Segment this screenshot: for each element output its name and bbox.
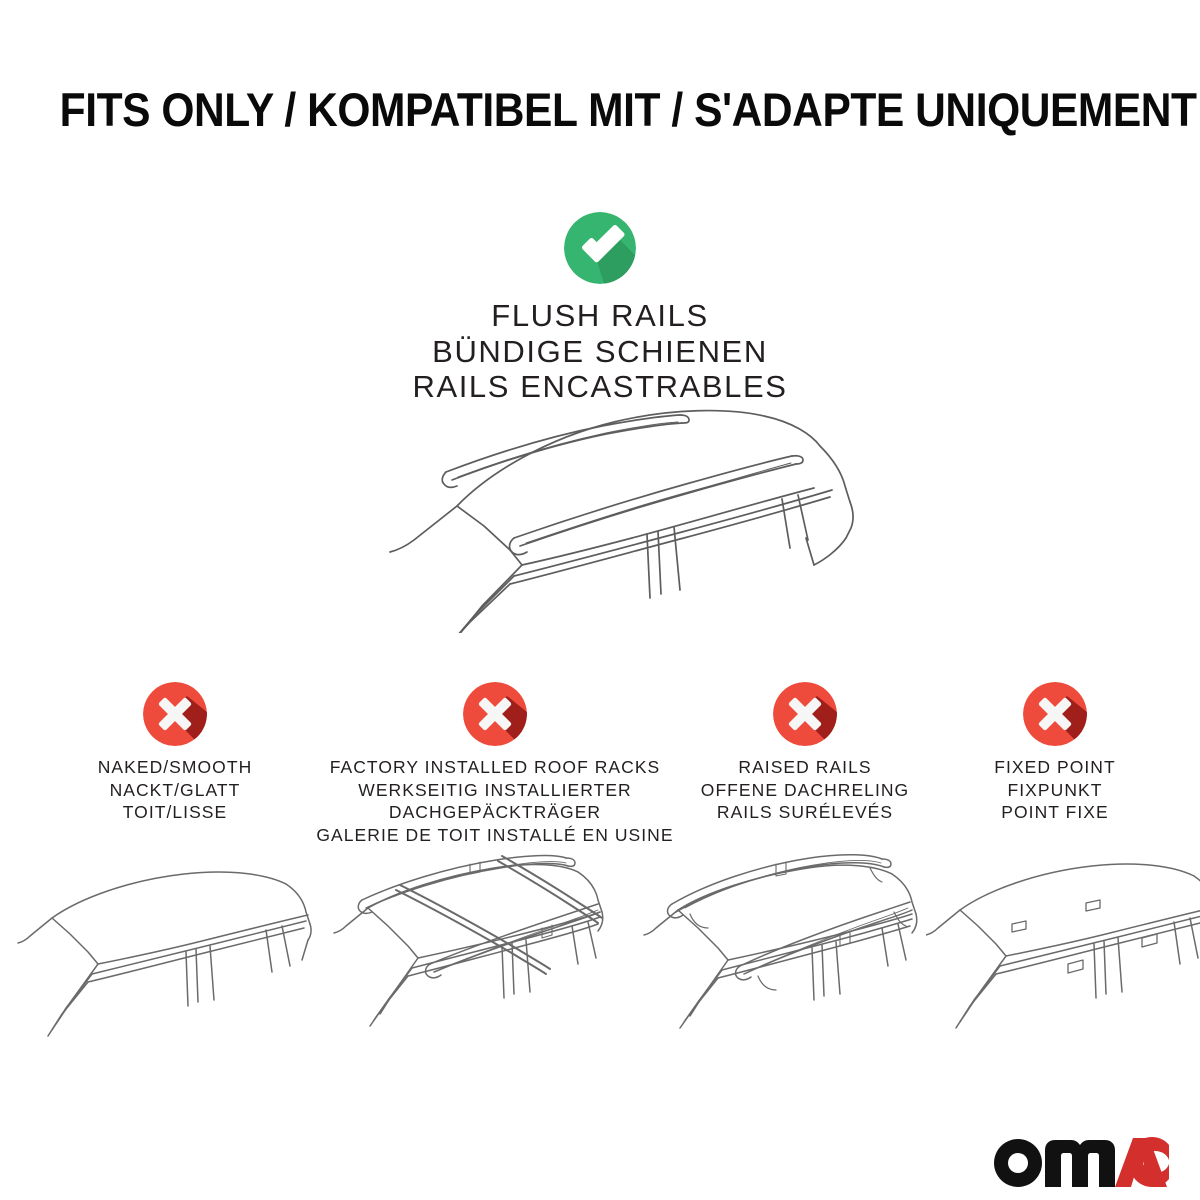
check-circle-icon: [564, 212, 636, 284]
incompatible-label-en: NAKED/SMOOTH: [45, 756, 305, 779]
incompatible-item-raised-rails: RAISED RAILS OFFENE DACHRELING RAILS SUR…: [660, 682, 950, 824]
incompatible-label-fr: GALERIE DE TOIT INSTALLÉ EN USINE: [300, 824, 690, 847]
car-roof-raised-rails-illustration: [622, 848, 922, 1053]
cross-circle-icon: [143, 682, 207, 746]
incompatible-label-de: FIXPUNKT: [935, 779, 1175, 802]
incompatible-label-de: OFFENE DACHRELING: [660, 779, 950, 802]
car-roof-naked-smooth-illustration: [14, 860, 314, 1065]
incompatible-label-de-2: DACHGEPÄCKTRÄGER: [300, 801, 690, 824]
incompatible-item-factory-roof-rack: FACTORY INSTALLED ROOF RACKS WERKSEITIG …: [300, 682, 690, 846]
car-roof-fixed-point-illustration: [926, 856, 1200, 1061]
cross-circle-icon: [463, 682, 527, 746]
incompatible-label-de: NACKT/GLATT: [45, 779, 305, 802]
incompatible-label-fr: RAILS SURÉLEVÉS: [660, 801, 950, 824]
incompatible-item-fixed-point: FIXED POINT FIXPUNKT POINT FIXE: [935, 682, 1175, 824]
incompatible-illustrations: [0, 848, 1200, 1068]
incompatible-labels: FACTORY INSTALLED ROOF RACKS WERKSEITIG …: [300, 756, 690, 846]
incompatible-labels: FIXED POINT FIXPUNKT POINT FIXE: [935, 756, 1175, 824]
omac-logo: [993, 1136, 1169, 1188]
incompatible-item-naked-smooth: NAKED/SMOOTH NACKT/GLATT TOIT/LISSE: [45, 682, 305, 824]
approved-labels: FLUSH RAILS BÜNDIGE SCHIENEN RAILS ENCAS…: [0, 298, 1200, 405]
car-roof-factory-roof-rack-illustration: [304, 846, 604, 1051]
logo-letter-o: [994, 1139, 1042, 1187]
page-title: FITS ONLY / KOMPATIBEL MIT / S'ADAPTE UN…: [60, 84, 1197, 136]
incompatible-label-en: FIXED POINT: [935, 756, 1175, 779]
approved-section: FLUSH RAILS BÜNDIGE SCHIENEN RAILS ENCAS…: [0, 212, 1200, 405]
car-roof-with-flush-rails-illustration: [362, 398, 862, 633]
incompatible-label-fr: TOIT/LISSE: [45, 801, 305, 824]
incompatible-label-en: RAISED RAILS: [660, 756, 950, 779]
incompatible-label-en: FACTORY INSTALLED ROOF RACKS: [300, 756, 690, 779]
approved-label-en: FLUSH RAILS: [0, 298, 1200, 334]
incompatible-label-de-1: WERKSEITIG INSTALLIERTER: [300, 779, 690, 802]
cross-circle-icon: [773, 682, 837, 746]
approved-label-de: BÜNDIGE SCHIENEN: [0, 334, 1200, 370]
logo-letter-m: [1045, 1140, 1115, 1187]
page-title-bar: FITS ONLY / KOMPATIBEL MIT / S'ADAPTE UN…: [0, 84, 1200, 136]
incompatible-labels: NAKED/SMOOTH NACKT/GLATT TOIT/LISSE: [45, 756, 305, 824]
incompatible-labels: RAISED RAILS OFFENE DACHRELING RAILS SUR…: [660, 756, 950, 824]
cross-circle-icon: [1023, 682, 1087, 746]
incompatible-label-fr: POINT FIXE: [935, 801, 1175, 824]
